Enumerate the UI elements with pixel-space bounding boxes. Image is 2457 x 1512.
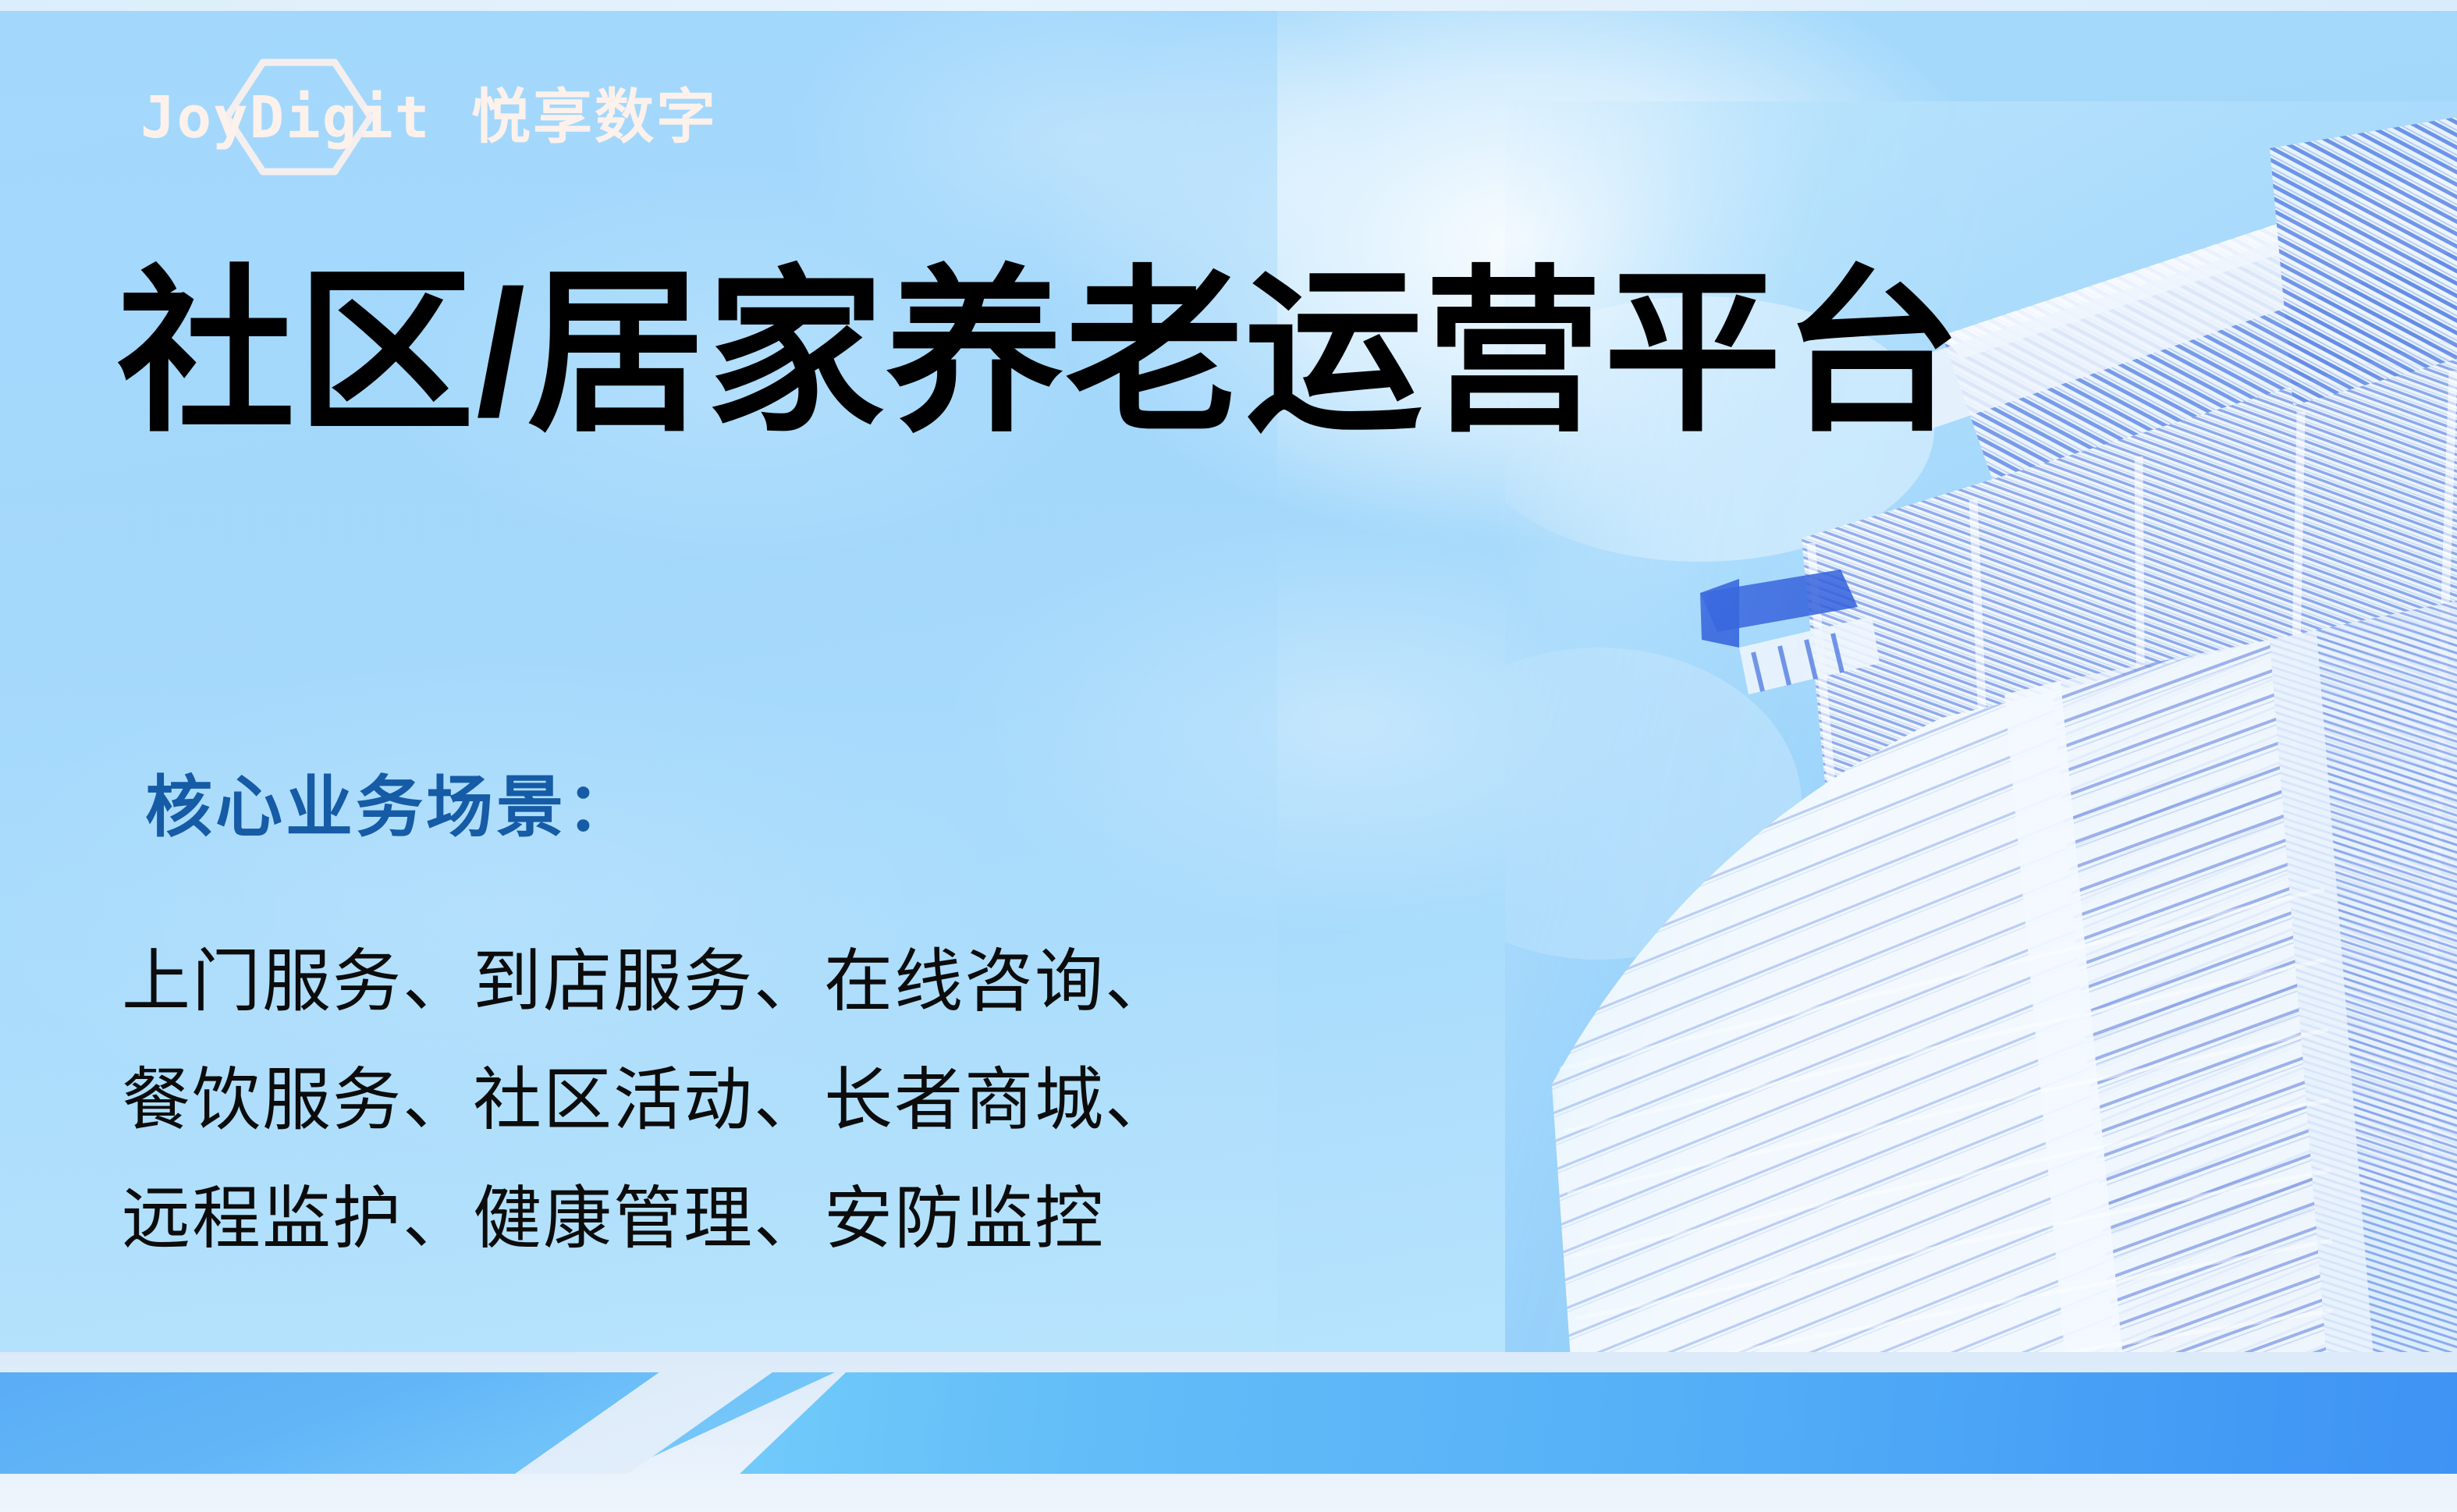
scenario-line: 远程监护、健康管理、安防监控: [122, 1159, 1175, 1278]
bottom-decoration: [0, 1352, 2457, 1512]
sky-left-wash: [0, 0, 1277, 1512]
bottom-band-right: [687, 1372, 2457, 1474]
top-edge-strip: [0, 0, 2457, 11]
scenario-line: 餐饮服务、社区活动、长者商城、: [122, 1041, 1175, 1159]
logo-mark: JoyDigit: [140, 75, 468, 161]
scenario-line: 上门服务、到店服务、在线咨询、: [122, 922, 1175, 1041]
section-heading: 核心业务场景：: [145, 771, 637, 845]
slide-root: JoyDigit 悦享数字 社区/居家养老运营平台 核心业务场景： 上门服务、到…: [0, 0, 2457, 1512]
page-title: 社区/居家养老运营平台: [117, 257, 1962, 449]
scenario-list: 上门服务、到店服务、在线咨询、 餐饮服务、社区活动、长者商城、 远程监护、健康管…: [122, 922, 1175, 1279]
brand-logo[interactable]: JoyDigit 悦享数字: [140, 75, 718, 161]
logo-latin-text: JoyDigit: [140, 89, 431, 147]
logo-chinese-text: 悦享数字: [471, 88, 718, 147]
